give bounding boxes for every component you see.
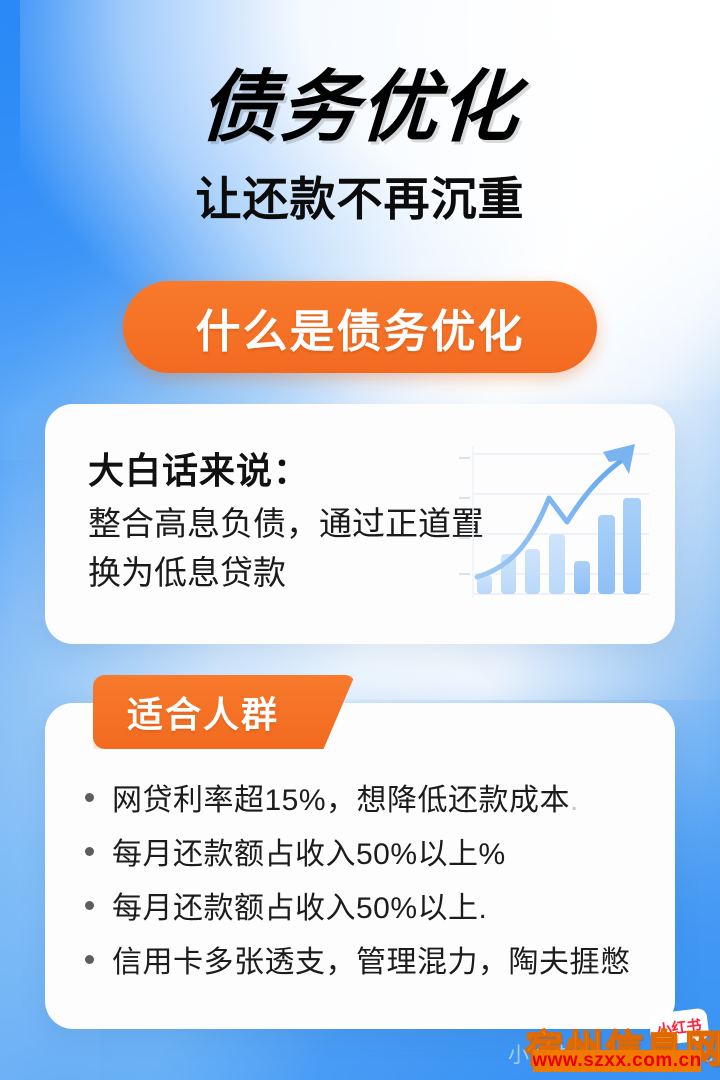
- list-item: 每月还款额占收入50%以上%: [85, 837, 655, 873]
- list-item-label: 信用卡多张透支，管理混力，陶夫捱憋: [112, 945, 631, 981]
- definition-card: 大白话来说： 整合高息负债，通过正道置换为低息贷款: [45, 404, 675, 644]
- watermark-url-label: www.szxx.com.cn: [533, 1050, 701, 1072]
- definition-body: 整合高息负债，通过正道置换为低息贷款: [88, 500, 488, 598]
- definition-heading: 大白话来说：: [88, 442, 310, 494]
- audience-tag-label: 适合人群: [127, 686, 279, 738]
- list-item-label: 网贷利率超15%，想降低还款成本: [112, 783, 570, 819]
- list-item: 每月还款额占收入50%以上.: [85, 891, 655, 927]
- audience-tag: 适合人群: [93, 675, 355, 749]
- section-pill-what-is[interactable]: 什么是债务优化: [123, 281, 597, 373]
- chart-axis-ticks: [459, 458, 470, 574]
- bullet-dot-icon: [85, 955, 94, 964]
- bullet-dot-icon: [85, 901, 94, 910]
- list-item: 网贷利率超15%，想降低还款成本 .: [85, 783, 655, 819]
- poster-title: 债务优化: [0, 68, 720, 146]
- audience-card: 网贷利率超15%，想降低还款成本 . 每月还款额占收入50%以上% 每月还款额占…: [45, 703, 675, 1029]
- list-item-label: 每月还款额占收入50%以上%: [112, 837, 506, 873]
- list-item-tail: .: [570, 783, 579, 819]
- watermark-url-banner: www.szxx.com.cn: [533, 1050, 701, 1072]
- bar-chart-icon: [453, 436, 653, 608]
- list-item-label: 每月还款额占收入50%以上.: [112, 891, 487, 927]
- list-item: 信用卡多张透支，管理混力，陶夫捱憋: [85, 945, 655, 981]
- audience-list: 网贷利率超15%，想降低还款成本 . 每月还款额占收入50%以上% 每月还款额占…: [85, 783, 655, 999]
- bullet-dot-icon: [85, 847, 94, 856]
- poster-subtitle: 让还款不再沉重: [0, 176, 720, 222]
- section-pill-label: 什么是债务优化: [195, 295, 524, 360]
- growth-chart-graphic: [453, 436, 653, 608]
- bullet-dot-icon: [85, 793, 94, 802]
- poster-root: 债务优化 让还款不再沉重 什么是债务优化 大白话来说： 整合高息负债，通过正道置…: [0, 0, 720, 1080]
